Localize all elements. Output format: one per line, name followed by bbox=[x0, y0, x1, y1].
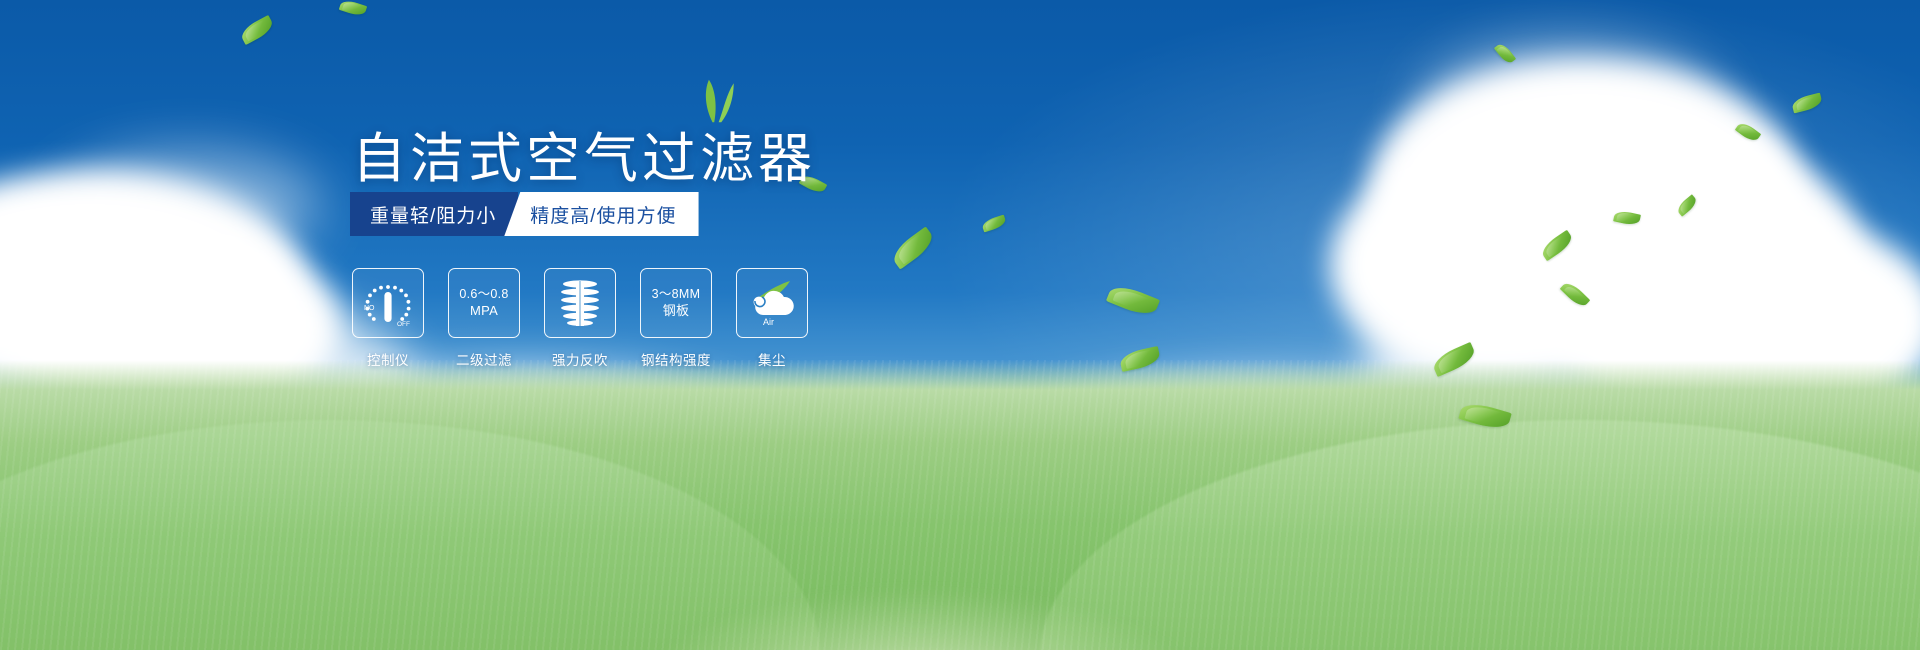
feature-box-air: Air bbox=[736, 268, 808, 338]
filter-cartridge-icon bbox=[557, 277, 603, 329]
feature-label-controller: 控制仪 bbox=[367, 349, 409, 369]
feature-item-dust-collection[interactable]: Air 集尘 bbox=[736, 268, 808, 369]
feature-item-steel-strength[interactable]: 3～8MM 钢板 钢结构强度 bbox=[640, 268, 712, 369]
air-label: Air bbox=[763, 317, 774, 327]
feature-tabs: 重量轻/阻力小 精度高/使用方便 bbox=[350, 192, 699, 236]
pressure-value: 0.6～0.8 bbox=[459, 287, 508, 303]
feature-label-back-blow: 强力反吹 bbox=[552, 349, 608, 369]
feature-icon-row: NO OFF 控制仪 0.6～0.8 MPA 二级过滤 bbox=[352, 268, 808, 369]
feature-box-controller: NO OFF bbox=[352, 268, 424, 338]
feature-item-two-stage-filter[interactable]: 0.6～0.8 MPA 二级过滤 bbox=[448, 268, 520, 369]
banner-content: 自洁式空气过滤器 重量轻/阻力小 精度高/使用方便 bbox=[0, 0, 1920, 650]
feature-label-steel-strength: 钢结构强度 bbox=[641, 349, 711, 369]
feature-box-steel: 3～8MM 钢板 bbox=[640, 268, 712, 338]
sprout-leaf-icon bbox=[686, 78, 746, 124]
tab-weight-resistance[interactable]: 重量轻/阻力小 bbox=[350, 192, 518, 236]
page-title: 自洁式空气过滤器 bbox=[352, 114, 816, 193]
gauge-dial-icon: NO OFF bbox=[361, 277, 415, 329]
feature-box-pressure: 0.6～0.8 MPA bbox=[448, 268, 520, 338]
pressure-unit: MPA bbox=[470, 303, 498, 319]
feature-item-controller[interactable]: NO OFF 控制仪 bbox=[352, 268, 424, 369]
feature-label-dust-collection: 集尘 bbox=[758, 349, 786, 369]
banner-hero: 自洁式空气过滤器 重量轻/阻力小 精度高/使用方便 bbox=[0, 0, 1920, 650]
feature-box-cartridge bbox=[544, 268, 616, 338]
feature-item-back-blow[interactable]: 强力反吹 bbox=[544, 268, 616, 369]
steel-thickness: 3～8MM bbox=[652, 287, 701, 303]
air-cloud-icon: Air bbox=[746, 279, 798, 327]
tab-precision-convenience[interactable]: 精度高/使用方便 bbox=[504, 192, 698, 236]
dial-no-label: NO bbox=[364, 305, 375, 312]
dial-off-label: OFF bbox=[397, 321, 410, 328]
steel-material: 钢板 bbox=[663, 303, 690, 319]
feature-label-two-stage-filter: 二级过滤 bbox=[456, 349, 512, 369]
